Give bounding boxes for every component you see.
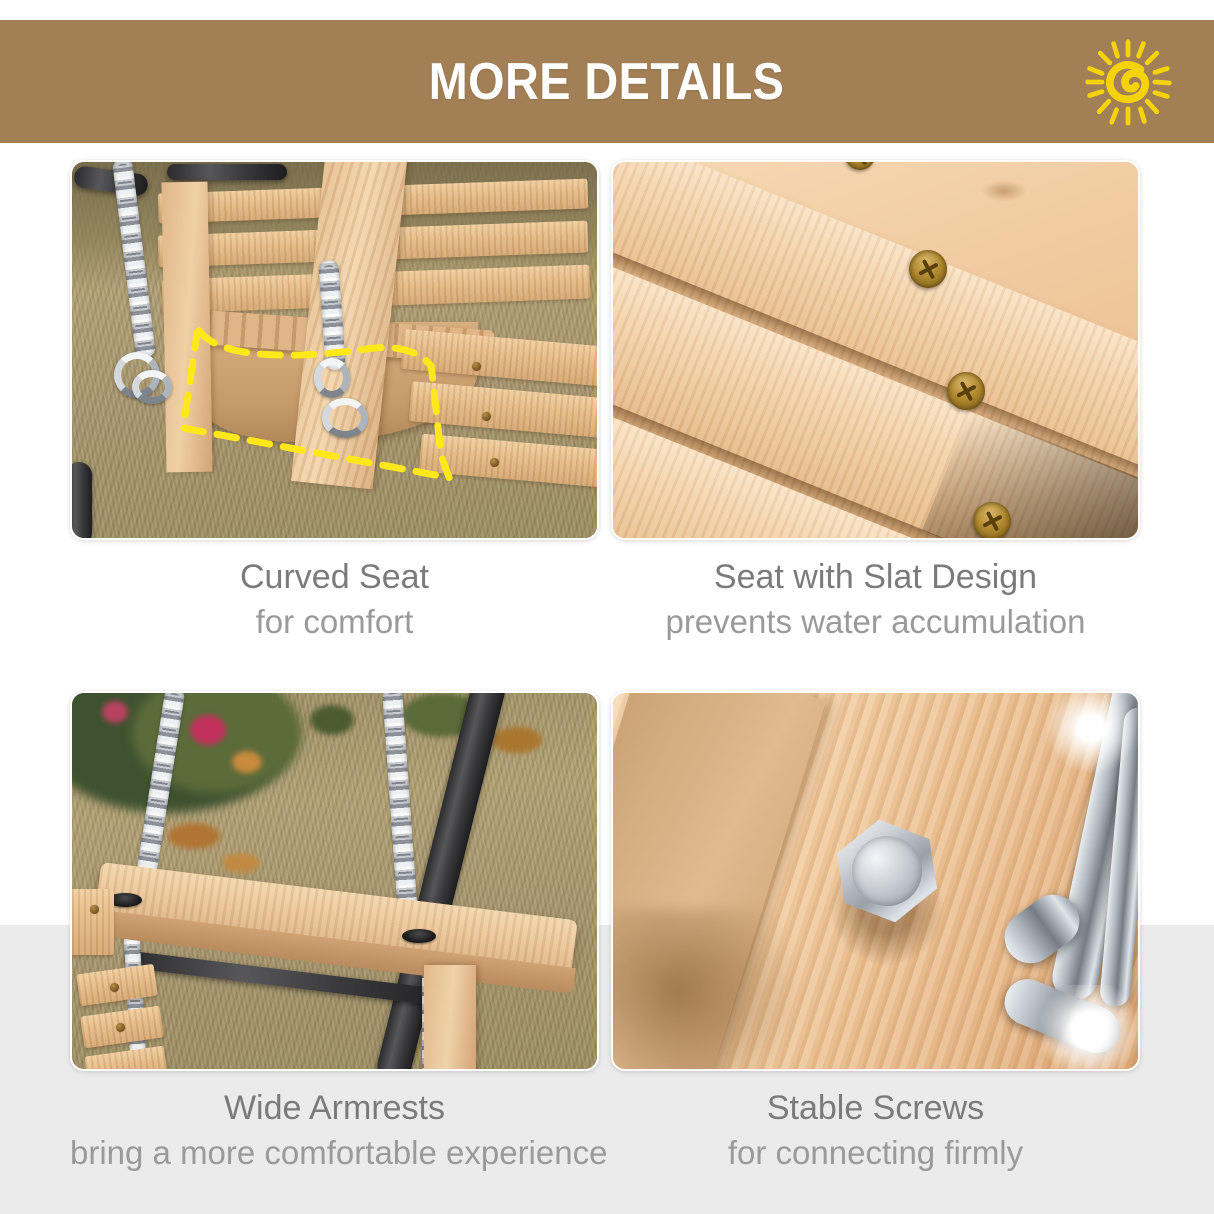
wide-armrest-photo — [70, 691, 599, 1071]
flower — [190, 715, 226, 745]
specular-highlight — [1034, 985, 1140, 1071]
leaf — [232, 751, 262, 773]
screw — [116, 1023, 125, 1032]
caption-title: Wide Armrests — [70, 1088, 599, 1128]
curved-seat-photo — [70, 160, 599, 540]
infographic-page: MORE DETAILS — [0, 0, 1214, 1214]
caption-stable-screws: Stable Screws for connecting firmly — [611, 1088, 1140, 1173]
caption-subtitle: prevents water accumulation — [611, 603, 1140, 642]
sun-icon — [1080, 34, 1176, 130]
curved-seat-annotation — [72, 162, 597, 539]
caption-title: Curved Seat — [70, 557, 599, 597]
flower — [102, 701, 128, 723]
caption-subtitle: for connecting firmly — [611, 1134, 1140, 1173]
leaf — [492, 727, 542, 753]
armrest-leg — [424, 965, 476, 1071]
caption-curved-seat: Curved Seat for comfort — [70, 557, 599, 642]
bush — [310, 705, 354, 735]
specular-highlight — [1046, 691, 1136, 773]
carved-detail — [611, 909, 803, 1071]
seat-slat — [70, 889, 114, 955]
leaf — [222, 853, 260, 873]
leaf — [168, 823, 220, 849]
feature-card-slat-design: Seat with Slat Design prevents water acc… — [611, 160, 1140, 642]
caption-title: Stable Screws — [611, 1088, 1140, 1128]
feature-grid: Curved Seat for comfort — [0, 143, 1214, 1214]
caption-subtitle: for comfort — [70, 603, 599, 642]
page-title: MORE DETAILS — [429, 52, 785, 112]
caption-title: Seat with Slat Design — [611, 557, 1140, 597]
feature-card-curved-seat: Curved Seat for comfort — [70, 160, 599, 642]
seat-slat-closeup-photo — [611, 160, 1140, 540]
feature-card-stable-screws: Stable Screws for connecting firmly — [611, 691, 1140, 1173]
header-banner: MORE DETAILS — [0, 20, 1214, 143]
wood-knot — [981, 180, 1027, 202]
armrest-washer — [402, 929, 436, 943]
screw — [90, 905, 99, 914]
hex-bolt-closeup-photo — [611, 691, 1140, 1071]
screw-head — [841, 162, 879, 174]
caption-subtitle: bring a more comfortable experience — [70, 1134, 599, 1173]
caption-wide-armrests: Wide Armrests bring a more comfortable e… — [70, 1088, 599, 1173]
feature-card-wide-armrests: Wide Armrests bring a more comfortable e… — [70, 691, 599, 1173]
caption-slat-design: Seat with Slat Design prevents water acc… — [611, 557, 1140, 642]
screw — [110, 983, 119, 992]
